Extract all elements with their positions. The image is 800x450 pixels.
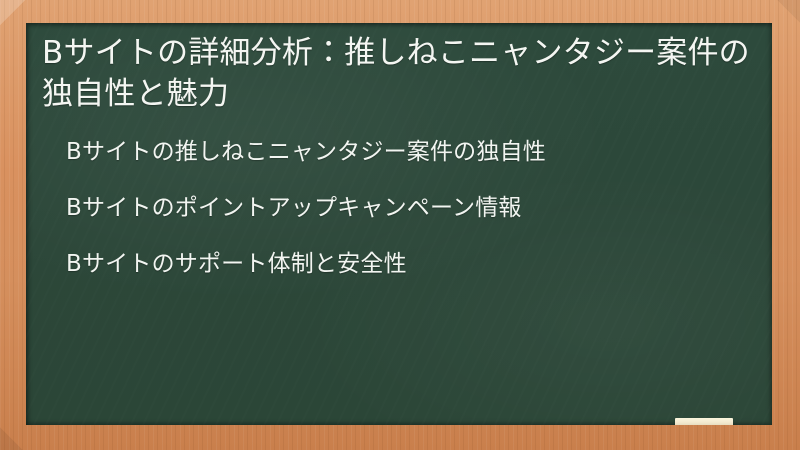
page-title: Bサイトの詳細分析：推しねこニャンタジー案件の独自性と魅力 [38,33,750,115]
chalkboard-wooden-frame: Bサイトの詳細分析：推しねこニャンタジー案件の独自性と魅力 Bサイトの推しねこニ… [0,0,800,450]
chalk-stick-icon [675,418,733,425]
list-item[interactable]: Bサイトのサポート体制と安全性 [66,251,750,279]
list-item[interactable]: Bサイトのポイントアップキャンペーン情報 [66,195,750,223]
chalkboard-content: Bサイトの詳細分析：推しねこニャンタジー案件の独自性と魅力 Bサイトの推しねこニ… [26,23,772,278]
list-item[interactable]: Bサイトの推しねこニャンタジー案件の独自性 [66,139,750,167]
chalkboard-surface: Bサイトの詳細分析：推しねこニャンタジー案件の独自性と魅力 Bサイトの推しねこニ… [26,23,772,425]
topic-list: Bサイトの推しねこニャンタジー案件の独自性 Bサイトのポイントアップキャンペーン… [38,139,750,278]
